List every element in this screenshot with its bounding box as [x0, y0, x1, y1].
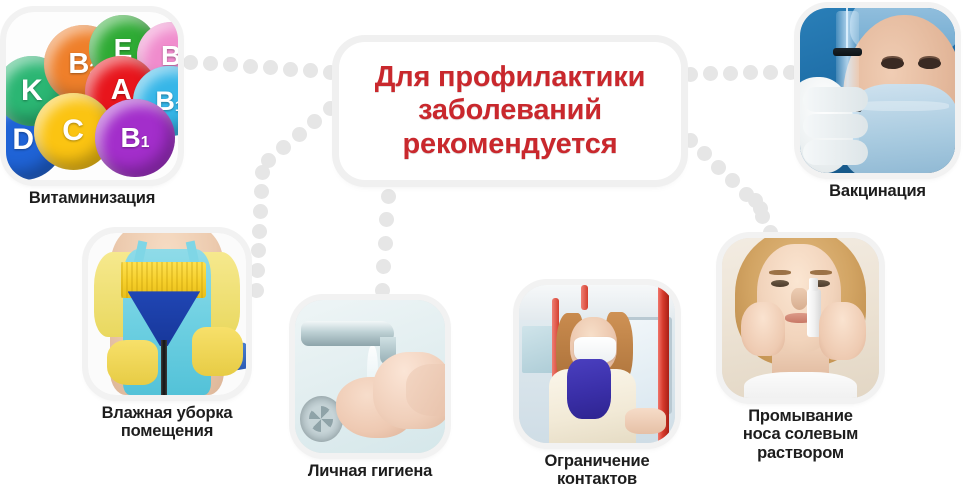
infographic-poster: Для профилактики заболеваний рекомендует… — [0, 0, 965, 500]
connector-dot — [683, 133, 698, 148]
connector-dot — [783, 65, 798, 80]
node-nasal-rinse: Промывание носа солевым раствором — [722, 238, 879, 462]
connector-dot — [250, 263, 265, 278]
connector-dot — [711, 160, 726, 175]
connector-dot — [703, 66, 718, 81]
glove-finger-2 — [803, 114, 868, 139]
nurse-eye-right — [918, 58, 941, 70]
poster-title: Для профилактики заболеваний рекомендует… — [375, 61, 645, 162]
connector-dot — [243, 59, 258, 74]
limit-contacts-caption: Ограничение контактов — [519, 452, 675, 489]
personal-hygiene-caption: Личная гигиена — [295, 462, 445, 480]
limit-contacts-tile — [519, 285, 675, 443]
connector-dot — [303, 63, 318, 78]
woman-with-broom-photo — [88, 233, 246, 395]
vitamins-tile: D K B2 E B A B1 C B1 — [6, 12, 178, 180]
personal-hygiene-caption-line-1: Личная гигиена — [295, 462, 445, 480]
nurse-with-syringe-photo — [800, 8, 955, 173]
nasal-rinse-caption-line-1: Промывание — [722, 407, 879, 425]
connector-dot — [254, 184, 269, 199]
connector-dot — [251, 243, 266, 258]
connector-dot — [261, 153, 276, 168]
node-vaccination: Вакцинация — [800, 8, 955, 200]
connector-dot — [378, 236, 393, 251]
connector-dot — [683, 67, 698, 82]
connector-dot — [725, 173, 740, 188]
wet-cleaning-tile — [88, 233, 246, 395]
nasal-rinse-caption-line-2: носа солевым — [722, 425, 879, 443]
connector-dot — [255, 165, 270, 180]
connector-dot — [743, 65, 758, 80]
nurse-eye-left — [881, 58, 904, 70]
connector-dot — [252, 224, 267, 239]
connector-dot — [381, 189, 396, 204]
nasal-rinse-caption-line-3: раствором — [722, 444, 879, 462]
glove-finger-3 — [803, 140, 868, 165]
glove-finger-1 — [803, 87, 868, 112]
connector-dot — [253, 204, 268, 219]
vaccination-tile — [800, 8, 955, 173]
white-top — [744, 372, 857, 398]
connector-dot — [376, 259, 391, 274]
nasal-rinse-caption: Промывание носа солевым раствором — [722, 407, 879, 462]
vitamins-caption-line-1: Витаминизация — [6, 189, 178, 207]
connector-dot — [763, 65, 778, 80]
eyebrow-right — [810, 270, 832, 275]
connector-dot — [183, 55, 198, 70]
bus-ceiling — [519, 285, 675, 320]
connector-dot — [307, 114, 322, 129]
syringe-band-top — [833, 48, 862, 56]
forearm — [406, 364, 445, 416]
limit-contacts-caption-line-1: Ограничение — [519, 452, 675, 470]
vitamins-caption: Витаминизация — [6, 189, 178, 207]
nasal-rinse-tile — [722, 238, 879, 398]
connector-dot — [697, 146, 712, 161]
masked-woman-in-bus-photo — [519, 285, 675, 443]
vaccination-caption-line-1: Вакцинация — [800, 182, 955, 200]
vitamin-ball-b1-purple: B1 — [95, 99, 174, 176]
connector-dot — [379, 212, 394, 227]
connector-dot — [755, 209, 770, 224]
connector-dot — [263, 60, 278, 75]
central-title-card: Для профилактики заболеваний рекомендует… — [339, 42, 681, 180]
connector-dot — [753, 201, 768, 216]
node-personal-hygiene: Личная гигиена — [295, 300, 445, 480]
vitamin-balls-photo: D K B2 E B A B1 C B1 — [6, 12, 178, 180]
connector-dot — [292, 127, 307, 142]
handwashing-under-tap-photo — [295, 300, 445, 453]
eyebrow-left — [769, 270, 791, 275]
node-wet-cleaning: Влажная уборка помещения — [88, 233, 246, 441]
yellow-glove-right — [192, 327, 243, 376]
title-line-2: заболеваний — [375, 94, 645, 128]
connector-dot — [723, 66, 738, 81]
connector-dot — [203, 56, 218, 71]
vaccination-caption: Вакцинация — [800, 182, 955, 200]
hand-left — [741, 302, 785, 356]
hand-right — [819, 302, 866, 360]
connector-dot — [249, 283, 264, 298]
wet-cleaning-caption: Влажная уборка помещения — [88, 404, 246, 441]
title-line-1: Для профилактики — [375, 61, 645, 95]
eye-left — [771, 280, 790, 287]
connector-dot — [323, 65, 338, 80]
limit-contacts-caption-line-2: контактов — [519, 470, 675, 488]
yellow-glove-left — [107, 340, 158, 385]
blue-scarf — [567, 359, 611, 419]
broom-handle — [161, 340, 167, 395]
connector-dot — [323, 101, 338, 116]
personal-hygiene-tile — [295, 300, 445, 453]
connector-dot — [375, 283, 390, 298]
title-line-3: рекомендуется — [375, 128, 645, 162]
bus-pole-ceiling — [581, 285, 588, 310]
connector-dot — [739, 187, 754, 202]
node-limit-contacts: Ограничение контактов — [519, 285, 675, 489]
node-vitamins: D K B2 E B A B1 C B1 Витаминизация — [6, 12, 178, 207]
connector-dot — [748, 193, 763, 208]
connector-dot — [276, 140, 291, 155]
woman-using-nasal-spray-photo — [722, 238, 879, 398]
wet-cleaning-caption-line-1: Влажная уборка — [88, 404, 246, 422]
connector-dot — [283, 62, 298, 77]
wet-cleaning-caption-line-2: помещения — [88, 422, 246, 440]
passenger-hand — [625, 408, 666, 433]
faucet — [301, 321, 394, 345]
connector-dot — [223, 57, 238, 72]
